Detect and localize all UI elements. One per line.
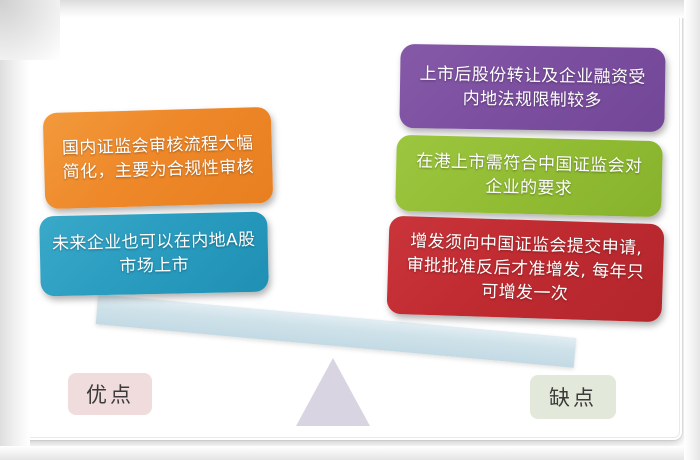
edge-vignette-corner bbox=[0, 0, 60, 60]
cons-callout-2[interactable]: 在港上市需符合中国证监会对企业的要求 bbox=[395, 135, 663, 217]
slide-canvas: 国内证监会审核流程大幅简化，主要为合规性审核 未来企业也可以在内地A股市场上市 … bbox=[0, 0, 700, 460]
cons-callout-3[interactable]: 增发须向中国证监会提交申请, 审批批准反后才准增发, 每年只可增发一次 bbox=[387, 216, 665, 323]
edge-vignette-right bbox=[684, 0, 700, 460]
cons-callout-1[interactable]: 上市后股份转让及企业融资受内地法规限制较多 bbox=[399, 44, 665, 132]
pros-label: 优点 bbox=[68, 373, 152, 415]
edge-vignette-left bbox=[0, 0, 30, 460]
balance-fulcrum-icon bbox=[296, 358, 370, 426]
pros-callout-1[interactable]: 国内证监会审核流程大幅简化，主要为合规性审核 bbox=[43, 107, 274, 209]
edge-vignette-top bbox=[0, 0, 700, 18]
pros-callout-2[interactable]: 未来企业也可以在内地A股市场上市 bbox=[39, 212, 269, 297]
edge-vignette-bottom bbox=[0, 446, 700, 460]
cons-label: 缺点 bbox=[530, 375, 616, 419]
